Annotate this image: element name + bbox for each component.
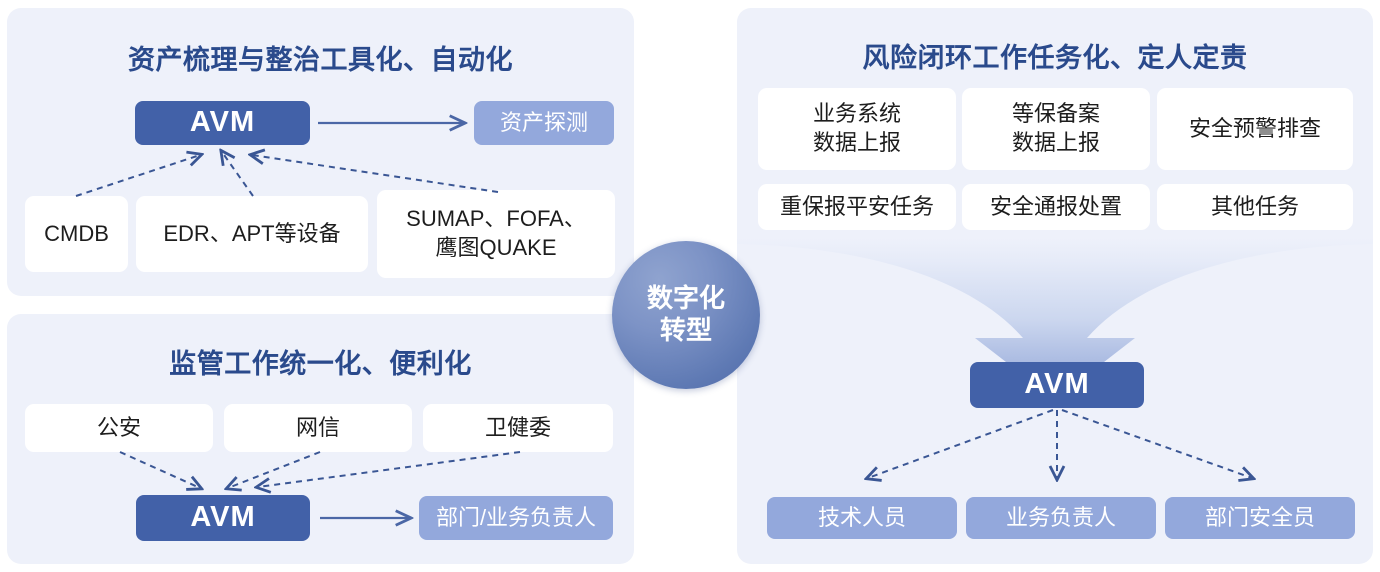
asset-avm-box[interactable]: AVM — [135, 101, 310, 145]
regulation-avm-box[interactable]: AVM — [136, 495, 310, 541]
risk-role-business-owner[interactable]: 业务负责人 — [966, 497, 1156, 539]
risk-task-line1: 业务系统 — [813, 100, 901, 129]
panel-asset-title: 资产梳理与整治工具化、自动化 — [7, 38, 634, 77]
center-label-line1: 数字化 — [647, 283, 725, 315]
center-label-line2: 转型 — [660, 315, 712, 347]
asset-source-sumap-line2: 鹰图QUAKE — [435, 234, 556, 263]
asset-detection-box[interactable]: 资产探测 — [474, 101, 614, 145]
asset-source-sumap-line1: SUMAP、FOFA、 — [406, 205, 586, 234]
risk-task-line1: 等保备案 — [1012, 100, 1100, 129]
risk-task-line2: 数据上报 — [813, 129, 901, 158]
risk-task-zhongbao[interactable]: 重保报平安任务 — [758, 184, 956, 230]
diagram-canvas: 资产梳理与整治工具化、自动化 — [0, 0, 1380, 572]
panel-regulation-title: 监管工作统一化、便利化 — [7, 342, 634, 381]
regulation-source-weijianwei[interactable]: 卫健委 — [423, 404, 613, 452]
panel-risk-title: 风险闭环工作任务化、定人定责 — [737, 36, 1373, 75]
risk-task-notification[interactable]: 安全通报处置 — [962, 184, 1150, 230]
risk-task-line2: 数据上报 — [1012, 129, 1100, 158]
risk-role-security-officer[interactable]: 部门安全员 — [1165, 497, 1355, 539]
risk-task-security-alert[interactable]: 安全预警排查 — [1157, 88, 1353, 170]
regulation-source-gongan[interactable]: 公安 — [25, 404, 213, 452]
regulation-source-wangxin[interactable]: 网信 — [224, 404, 412, 452]
regulation-owner-box[interactable]: 部门/业务负责人 — [419, 496, 613, 540]
risk-task-other[interactable]: 其他任务 — [1157, 184, 1353, 230]
risk-role-technician[interactable]: 技术人员 — [767, 497, 957, 539]
asset-source-edr[interactable]: EDR、APT等设备 — [136, 196, 368, 272]
asset-source-sumap[interactable]: SUMAP、FOFA、 鹰图QUAKE — [377, 190, 615, 278]
asset-source-cmdb[interactable]: CMDB — [25, 196, 128, 272]
risk-avm-box[interactable]: AVM — [970, 362, 1144, 408]
center-digital-transformation-badge[interactable]: 数字化 转型 — [612, 241, 760, 389]
risk-task-business-report[interactable]: 业务系统 数据上报 — [758, 88, 956, 170]
risk-task-dengbao-report[interactable]: 等保备案 数据上报 — [962, 88, 1150, 170]
